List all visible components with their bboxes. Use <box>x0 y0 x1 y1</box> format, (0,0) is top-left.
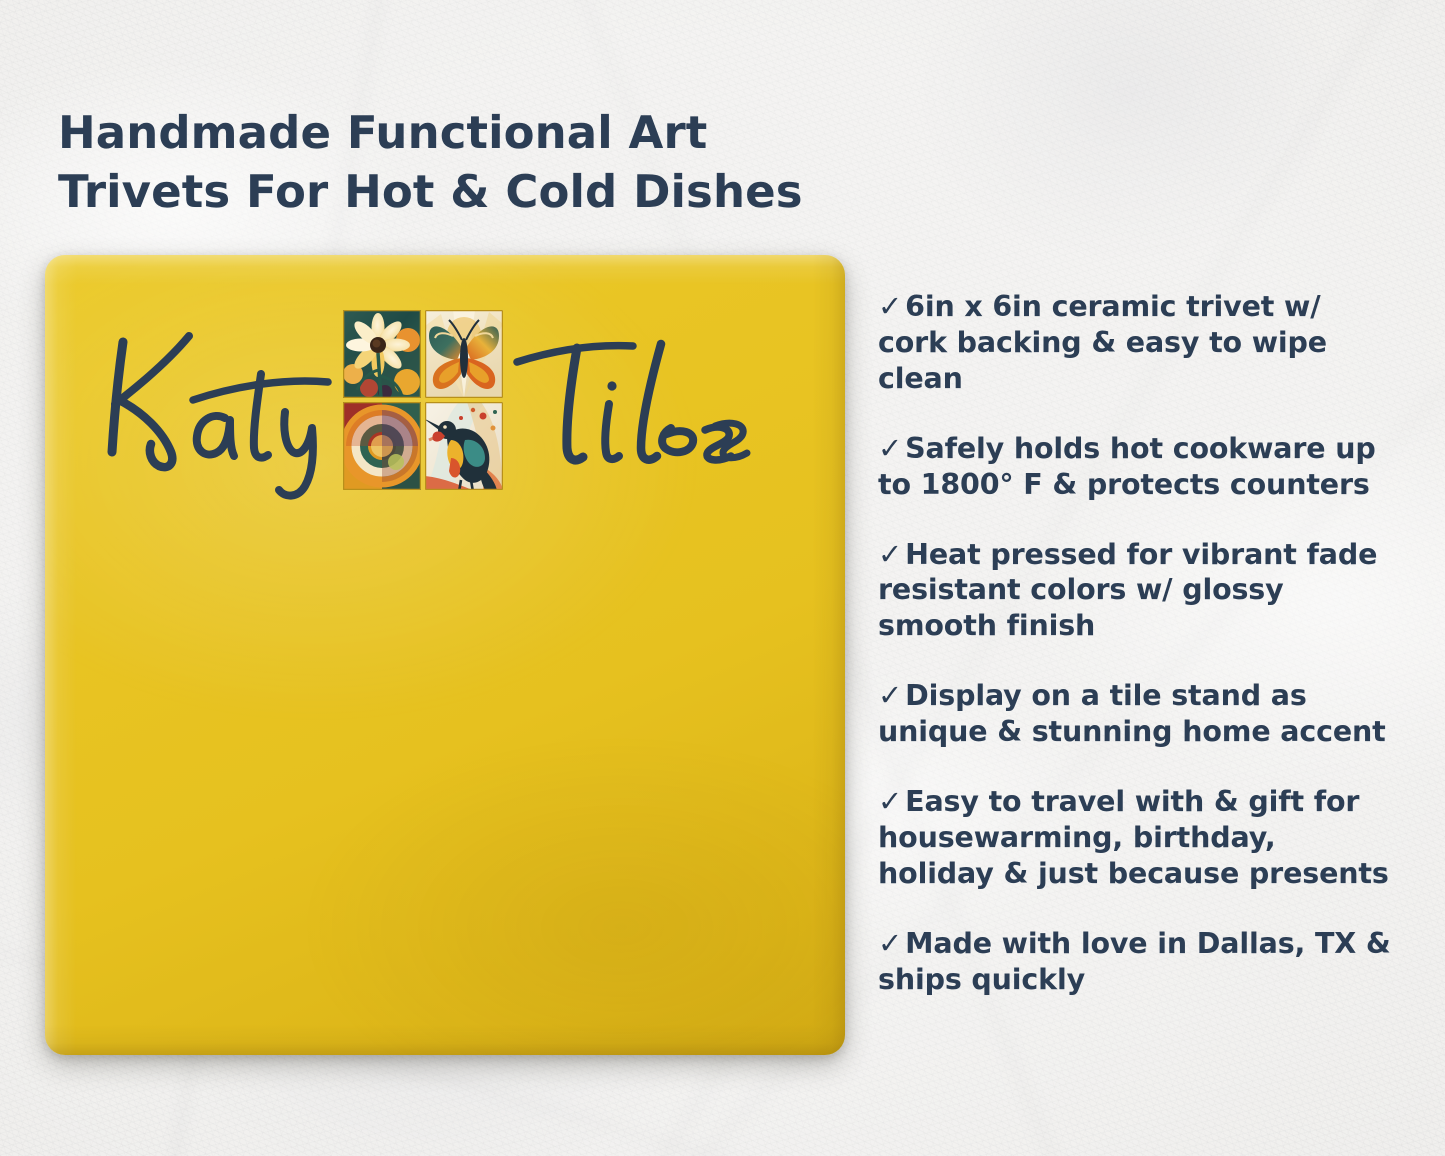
check-icon: ✓ <box>878 289 905 323</box>
feature-text-1: 6in x 6in ceramic trivet w/ cork backing… <box>878 290 1327 395</box>
feature-text-6: Made with love in Dallas, TX & ships qui… <box>878 927 1391 996</box>
feature-text-4: Display on a tile stand as unique & stun… <box>878 679 1386 748</box>
feature-item-2: ✓Safely holds hot cookware up to 1800° F… <box>878 430 1398 503</box>
brand-word-tiles <box>517 344 747 460</box>
feature-item-1: ✓6in x 6in ceramic trivet w/ cork backin… <box>878 288 1398 397</box>
check-icon: ✓ <box>878 926 905 960</box>
logo-art-grid <box>343 310 503 492</box>
circles-art-tile <box>343 402 421 490</box>
feature-text-5: Easy to travel with & gift for housewarm… <box>878 785 1389 890</box>
check-icon: ✓ <box>878 537 905 571</box>
feature-text-2: Safely holds hot cookware up to 1800° F … <box>878 432 1376 501</box>
brand-logo <box>85 300 765 500</box>
product-feature-graphic: Handmade Functional Art Trivets For Hot … <box>0 0 1445 1156</box>
brand-logo-artwork <box>85 300 765 500</box>
page-title-line-1: Handmade Functional Art <box>58 104 878 163</box>
check-icon: ✓ <box>878 431 905 465</box>
page-title: Handmade Functional Art Trivets For Hot … <box>58 104 878 221</box>
check-icon: ✓ <box>878 784 905 818</box>
feature-item-6: ✓Made with love in Dallas, TX & ships qu… <box>878 925 1398 998</box>
feature-list: ✓6in x 6in ceramic trivet w/ cork backin… <box>878 288 1398 998</box>
bird-art-tile <box>423 402 503 492</box>
check-icon: ✓ <box>878 678 905 712</box>
feature-item-5: ✓Easy to travel with & gift for housewar… <box>878 783 1398 892</box>
page-title-line-2: Trivets For Hot & Cold Dishes <box>58 163 878 222</box>
flower-art-tile <box>343 310 421 399</box>
butterfly-art-tile <box>425 310 503 398</box>
feature-text-3: Heat pressed for vibrant fade resistant … <box>878 538 1377 643</box>
feature-item-3: ✓Heat pressed for vibrant fade resistant… <box>878 536 1398 645</box>
brand-word-katy <box>112 336 328 496</box>
feature-item-4: ✓Display on a tile stand as unique & stu… <box>878 677 1398 750</box>
